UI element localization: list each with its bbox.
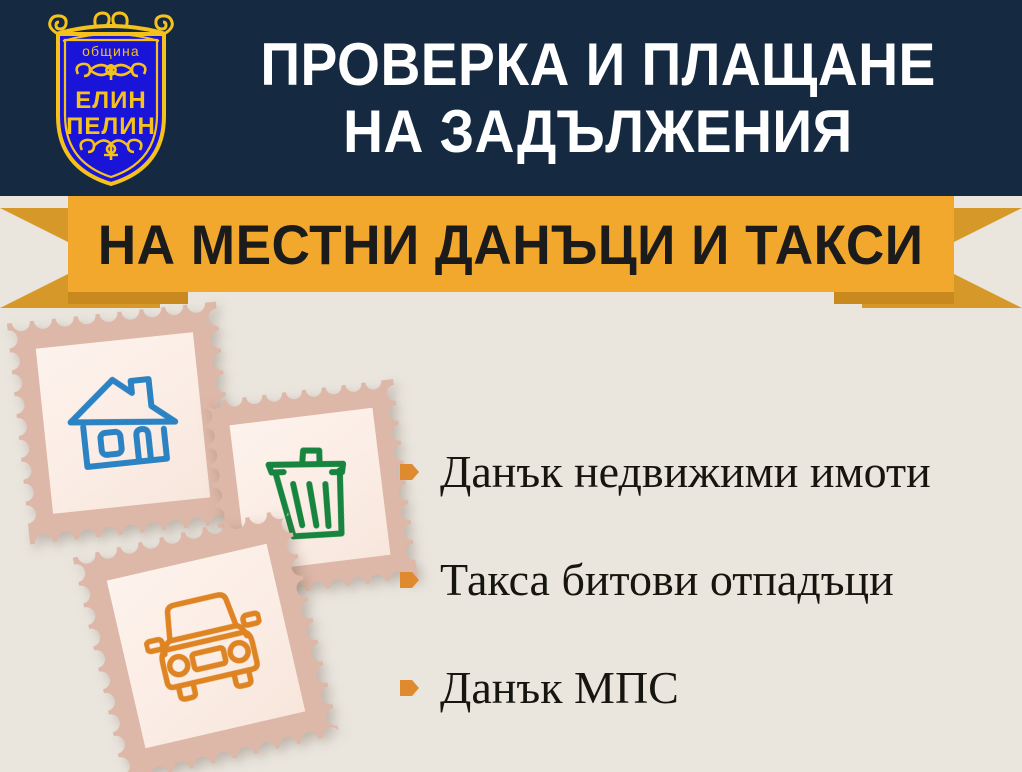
subtitle-ribbon: НА МЕСТНИ ДАНЪЦИ И ТАКСИ: [0, 196, 1022, 308]
ribbon-subtitle: НА МЕСТНИ ДАНЪЦИ И ТАКСИ: [98, 212, 924, 277]
arrow-bullet-icon: [398, 461, 420, 483]
arrow-bullet-icon: [398, 677, 420, 699]
stamp-inner-house: [36, 332, 210, 514]
logo-line-small: община: [82, 43, 140, 59]
car-icon: [136, 581, 277, 711]
poster-root: община ЕЛИН ПЕЛИН ПРОВЕРКА И ПЛАЩАНЕ НА …: [0, 0, 1022, 772]
tax-type-list: Данък недвижими имоти Такса битови отпад…: [398, 418, 1018, 742]
arrow-bullet-icon: [398, 569, 420, 591]
list-item[interactable]: Такса битови отпадъци: [398, 526, 1018, 634]
list-item[interactable]: Данък недвижими имоти: [398, 418, 1018, 526]
page-title-line-1: ПРОВЕРКА И ПЛАЩАНЕ: [260, 31, 935, 98]
list-item-label: Данък МПС: [440, 665, 679, 711]
logo-line-one: ЕЛИН: [75, 87, 146, 114]
page-title-line-2: НА ЗАДЪЛЖЕНИЯ: [343, 98, 853, 165]
list-item[interactable]: Данък МПС: [398, 634, 1018, 742]
coat-of-arms-icon: община ЕЛИН ПЕЛИН: [40, 8, 182, 188]
list-item-label: Данък недвижими имоти: [440, 449, 931, 495]
list-item-label: Такса битови отпадъци: [440, 557, 894, 603]
ribbon-panel: НА МЕСТНИ ДАНЪЦИ И ТАКСИ: [68, 196, 954, 292]
house-icon: [62, 365, 184, 480]
logo-line-two: ПЕЛИН: [66, 113, 156, 140]
header-title-group: ПРОВЕРКА И ПЛАЩАНЕ НА ЗАДЪЛЖЕНИЯ: [186, 16, 1010, 180]
municipality-logo: община ЕЛИН ПЕЛИН: [40, 8, 182, 188]
